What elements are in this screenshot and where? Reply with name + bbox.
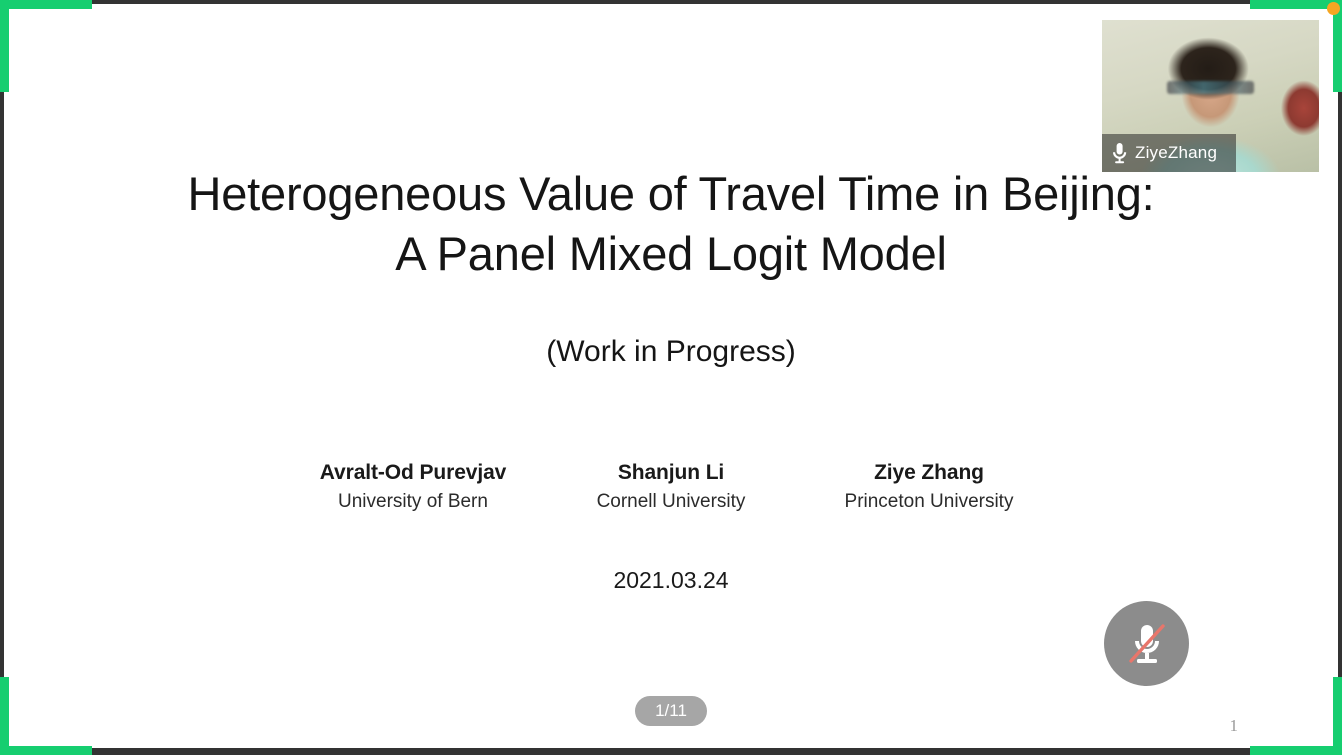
author-entry: Avralt-Od Purevjav University of Bern xyxy=(284,459,542,516)
webcam-participant-name: ZiyeZhang xyxy=(1135,143,1217,163)
author-entry: Ziye Zhang Princeton University xyxy=(800,459,1058,516)
microphone-muted-icon xyxy=(1124,619,1170,669)
author-affiliation: Cornell University xyxy=(542,488,800,516)
slide-title-line-2: A Panel Mixed Logit Model xyxy=(84,224,1258,284)
share-frame-resize-handle[interactable] xyxy=(1327,2,1340,15)
author-entry: Shanjun Li Cornell University xyxy=(542,459,800,516)
webcam-thumbnail[interactable]: ZiyeZhang xyxy=(1102,20,1319,172)
author-name: Shanjun Li xyxy=(542,459,800,486)
page-indicator-label: 1/11 xyxy=(655,701,687,721)
mute-toggle-button[interactable] xyxy=(1104,601,1189,686)
author-name: Avralt-Od Purevjav xyxy=(284,459,542,486)
author-list: Avralt-Od Purevjav University of Bern Sh… xyxy=(4,459,1338,516)
author-affiliation: Princeton University xyxy=(800,488,1058,516)
slide-title: Heterogeneous Value of Travel Time in Be… xyxy=(4,164,1338,284)
slide-page-number: 1 xyxy=(1230,716,1239,736)
slide-subtitle: (Work in Progress) xyxy=(4,331,1338,373)
webcam-nameplate: ZiyeZhang xyxy=(1102,134,1236,172)
author-affiliation: University of Bern xyxy=(284,488,542,516)
author-name: Ziye Zhang xyxy=(800,459,1058,486)
page-indicator[interactable]: 1/11 xyxy=(635,696,707,726)
slide-title-line-1: Heterogeneous Value of Travel Time in Be… xyxy=(187,167,1154,220)
slide-date: 2021.03.24 xyxy=(4,567,1338,594)
microphone-icon xyxy=(1111,142,1128,165)
screen-share-view: Heterogeneous Value of Travel Time in Be… xyxy=(0,0,1342,755)
